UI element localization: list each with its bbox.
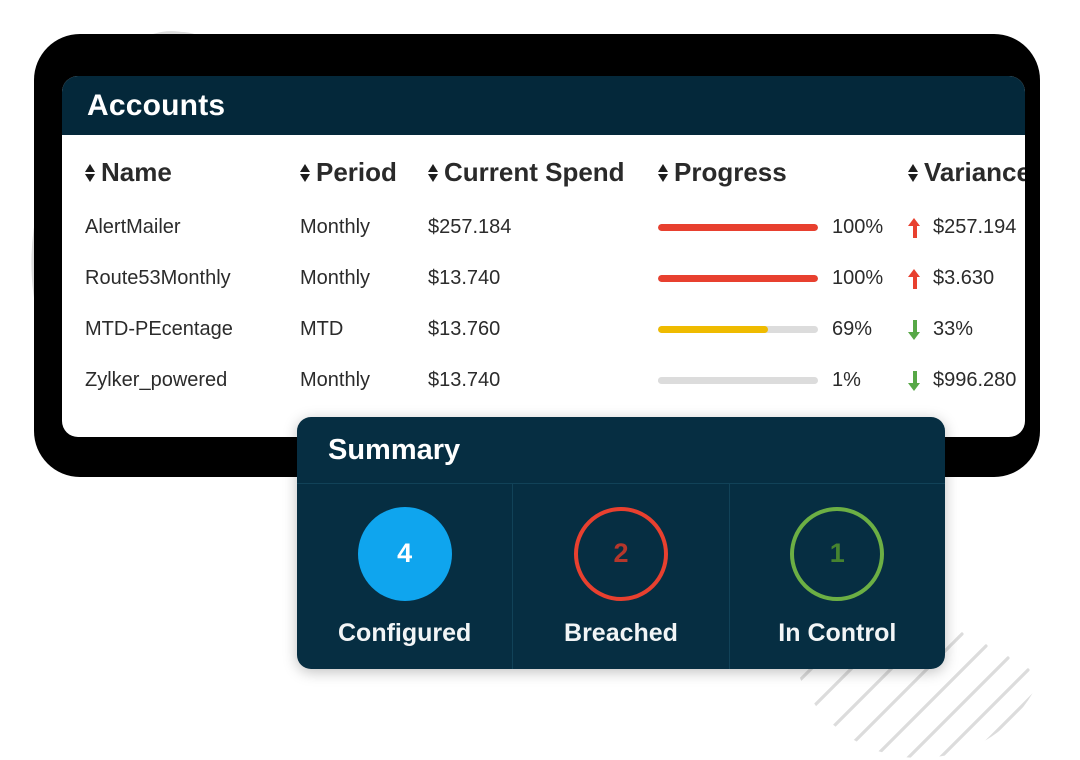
cell-period: Monthly: [300, 202, 428, 253]
arrow-up-icon: [908, 269, 921, 289]
progress-percent-label: 100%: [832, 267, 883, 290]
column-header-label: Progress: [674, 157, 787, 187]
progress-bar-fill: [658, 275, 818, 282]
summary-count-badge: 2: [574, 507, 668, 601]
progress-bar-track: [658, 275, 818, 282]
column-header-label: Current Spend: [444, 157, 625, 187]
column-header-label: Name: [101, 157, 172, 187]
sort-updown-icon[interactable]: [658, 162, 669, 184]
column-header-progress[interactable]: Progress: [658, 135, 908, 202]
cell-current-spend: $13.740: [428, 355, 658, 406]
cell-variance: $3.630: [908, 253, 1025, 304]
summary-count-badge: 1: [790, 507, 884, 601]
variance-value: 33%: [933, 318, 973, 341]
table-row[interactable]: Zylker_poweredMonthly$13.7401%$996.280: [62, 355, 1025, 406]
column-header-period[interactable]: Period: [300, 135, 428, 202]
progress-bar-fill: [658, 326, 768, 333]
cell-period: Monthly: [300, 253, 428, 304]
column-header-name[interactable]: Name: [62, 135, 300, 202]
cell-name: MTD-PEcentage: [62, 304, 300, 355]
cell-name: Zylker_powered: [62, 355, 300, 406]
accounts-card-header: Accounts: [62, 76, 1025, 135]
summary-metrics-row: 4Configured2Breached1In Control: [297, 483, 945, 669]
sort-updown-icon[interactable]: [428, 162, 439, 184]
summary-count-badge: 4: [358, 507, 452, 601]
progress-percent-label: 100%: [832, 216, 883, 239]
table-row[interactable]: MTD-PEcentageMTD$13.76069%33%: [62, 304, 1025, 355]
table-row[interactable]: Route53MonthlyMonthly$13.740100%$3.630: [62, 253, 1025, 304]
cell-variance: $257.194: [908, 202, 1025, 253]
cell-progress: 1%: [658, 355, 908, 406]
sort-updown-icon[interactable]: [908, 162, 919, 184]
arrow-down-icon: [908, 320, 921, 340]
progress-bar-track: [658, 224, 818, 231]
summary-label: Configured: [338, 619, 471, 648]
accounts-table-head: Name Period Current Spend Progress Varia…: [62, 135, 1025, 202]
accounts-table: Name Period Current Spend Progress Varia…: [62, 135, 1025, 406]
summary-cell-configured[interactable]: 4Configured: [297, 484, 512, 669]
table-row[interactable]: AlertMailerMonthly$257.184100%$257.194: [62, 202, 1025, 253]
cell-progress: 100%: [658, 253, 908, 304]
progress-bar-track: [658, 377, 818, 384]
cell-progress: 69%: [658, 304, 908, 355]
accounts-card: Accounts Name Period Current Spend Progr…: [62, 76, 1025, 437]
arrow-down-icon: [908, 371, 921, 391]
cell-period: Monthly: [300, 355, 428, 406]
table-header-row: Name Period Current Spend Progress Varia…: [62, 135, 1025, 202]
screenshot-stage: Accounts Name Period Current Spend Progr…: [0, 0, 1080, 760]
variance-value: $996.280: [933, 369, 1016, 392]
column-header-label: Variance: [924, 157, 1025, 187]
progress-bar-fill: [658, 377, 660, 384]
progress-bar-fill: [658, 224, 818, 231]
arrow-up-icon: [908, 218, 921, 238]
summary-cell-breached[interactable]: 2Breached: [512, 484, 728, 669]
cell-current-spend: $257.184: [428, 202, 658, 253]
cell-variance: 33%: [908, 304, 1025, 355]
column-header-current-spend[interactable]: Current Spend: [428, 135, 658, 202]
summary-cell-in-control[interactable]: 1In Control: [729, 484, 945, 669]
cell-variance: $996.280: [908, 355, 1025, 406]
cell-name: AlertMailer: [62, 202, 300, 253]
cell-current-spend: $13.760: [428, 304, 658, 355]
sort-updown-icon[interactable]: [85, 162, 96, 184]
progress-percent-label: 1%: [832, 369, 861, 392]
summary-title: Summary: [328, 434, 460, 467]
page-title: Accounts: [87, 89, 225, 123]
summary-panel-header: Summary: [297, 417, 945, 483]
cell-progress: 100%: [658, 202, 908, 253]
column-header-variance[interactable]: Variance: [908, 135, 1025, 202]
variance-value: $257.194: [933, 216, 1016, 239]
variance-value: $3.630: [933, 267, 994, 290]
summary-label: Breached: [564, 619, 678, 648]
progress-bar-track: [658, 326, 818, 333]
progress-percent-label: 69%: [832, 318, 872, 341]
sort-updown-icon[interactable]: [300, 162, 311, 184]
cell-name: Route53Monthly: [62, 253, 300, 304]
cell-period: MTD: [300, 304, 428, 355]
column-header-label: Period: [316, 157, 397, 187]
summary-panel: Summary 4Configured2Breached1In Control: [297, 417, 945, 669]
cell-current-spend: $13.740: [428, 253, 658, 304]
summary-label: In Control: [778, 619, 896, 648]
accounts-table-body: AlertMailerMonthly$257.184100%$257.194Ro…: [62, 202, 1025, 406]
